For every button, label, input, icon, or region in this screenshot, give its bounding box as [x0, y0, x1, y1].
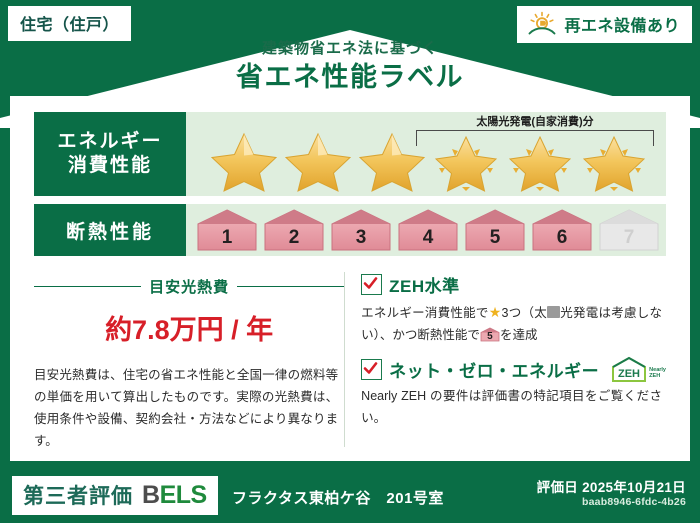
claim-text-post: を達成 [500, 328, 538, 342]
insulation-level-badge: 2 [262, 208, 326, 252]
energy-star-rating [186, 130, 666, 192]
insulation-performance-label-tag: 断熱性能 [34, 204, 186, 256]
heading-rule-right [237, 286, 344, 287]
property-name: フラクタス東柏ケ谷 201号室 [232, 487, 444, 508]
claim-net-zero-energy: ネット・ゼロ・エネルギー ZEH Nearly ZEH [361, 356, 666, 429]
evaluation-id: baab8946-6fdc-4b26 [582, 496, 686, 508]
star-icon [209, 130, 279, 192]
energy-performance-label-tag: エネルギー 消費性能 [34, 112, 186, 196]
insulation-level-scale: 1 2 3 4 5 [186, 204, 666, 256]
star-icon [357, 130, 427, 192]
checkbox-checked-icon [361, 274, 382, 295]
claims-section: ZEH水準 エネルギー消費性能で★3つ（太光発電は考慮しない）、かつ断熱性能で5… [344, 272, 666, 447]
insulation-level-badge: 3 [329, 208, 393, 252]
insulation-level-number: 1 [195, 228, 259, 247]
insulation-level-number: 6 [530, 228, 594, 247]
inline-badge-number: 5 [480, 332, 500, 342]
claim-zeh-standard-body: エネルギー消費性能で★3つ（太光発電は考慮しない）、かつ断熱性能で5を達成 [361, 300, 666, 346]
renewable-energy-badge: 再エネ設備あり [517, 6, 692, 43]
zeh-logo-icon: ZEH Nearly ZEH [610, 356, 666, 383]
claim-zeh-standard-title: ZEH水準 [389, 272, 460, 297]
claim-text-pre: エネルギー消費性能で [361, 306, 489, 320]
utility-cost-note: 目安光熱費は、住宅の省エネ性能と全国一律の燃料等の単価を用いて算出したものです。… [34, 365, 344, 453]
star-icon-solar [505, 130, 575, 192]
bels-wordmark: BELS [142, 481, 207, 510]
dwelling-type-tag: 住宅（住戸） [8, 6, 131, 41]
svg-text:ZEH: ZEH [618, 368, 640, 380]
bels-letter-b: B [142, 481, 160, 509]
evaluation-date: 評価日 2025年10月21日 [537, 476, 686, 496]
energy-label-line2: 消費性能 [68, 154, 152, 178]
energy-label-line1: エネルギー [57, 130, 162, 154]
utility-cost-heading: 目安光熱費 [34, 276, 344, 297]
star-icon-solar [431, 130, 501, 192]
heading-rule-left [34, 286, 141, 287]
claim-text-mid: 3つ（太 [502, 306, 547, 320]
insulation-level-number: 4 [396, 228, 460, 247]
bels-certification-plate: 第三者評価 BELS [12, 476, 218, 515]
lower-section: 目安光熱費 約7.8万円 / 年 目安光熱費は、住宅の省エネ性能と全国一律の燃料… [34, 272, 666, 447]
utility-cost-value: 約7.8万円 / 年 [34, 308, 344, 347]
redacted-character [547, 306, 560, 318]
insulation-level-badge: 5 [463, 208, 527, 252]
claim-zeh-standard: ZEH水準 エネルギー消費性能で★3つ（太光発電は考慮しない）、かつ断熱性能で5… [361, 272, 666, 346]
label-footer: 第三者評価 BELS フラクタス東柏ケ谷 201号室 評価日 2025年10月2… [0, 467, 700, 523]
energy-performance-label: 住宅（住戸） 再エネ設備あり 建築物省エネ法に基づく 省エネ性能ラベル [0, 0, 700, 523]
checkbox-checked-icon [361, 359, 382, 380]
claim-net-zero-header: ネット・ゼロ・エネルギー ZEH Nearly ZEH [361, 356, 666, 383]
renewable-badge-label: 再エネ設備あり [564, 12, 680, 36]
utility-cost-section: 目安光熱費 約7.8万円 / 年 目安光熱費は、住宅の省エネ性能と全国一律の燃料… [34, 272, 344, 447]
insulation-level-number: 5 [463, 228, 527, 247]
label-title-block: 建築物省エネ法に基づく 省エネ性能ラベル [0, 40, 700, 93]
energy-performance-rating-area: 太陽光発電(自家消費)分 [186, 112, 666, 196]
claim-net-zero-title: ネット・ゼロ・エネルギー [389, 357, 599, 382]
star-icon [283, 130, 353, 192]
insulation-level-badge: 6 [530, 208, 594, 252]
insulation-level-badge-inactive: 7 [597, 208, 661, 252]
insulation-performance-row: 断熱性能 1 2 3 [34, 204, 666, 256]
insulation-level-badge: 1 [195, 208, 259, 252]
utility-cost-heading-label: 目安光熱費 [149, 276, 229, 297]
insulation-rating-area: 1 2 3 4 5 [186, 204, 666, 256]
inline-star-icon: ★ [489, 304, 502, 320]
insulation-level-badge: 4 [396, 208, 460, 252]
label-main-title: 省エネ性能ラベル [0, 61, 700, 93]
claim-zeh-standard-header: ZEH水準 [361, 272, 666, 297]
energy-performance-row: エネルギー 消費性能 太陽光発電(自家消費)分 [34, 112, 666, 196]
label-card: エネルギー 消費性能 太陽光発電(自家消費)分 [10, 96, 690, 461]
insulation-level-number: 2 [262, 228, 326, 247]
inline-insulation-badge-icon: 5 [480, 327, 500, 342]
zeh-sub-line2: ZEH [649, 373, 660, 379]
solar-sun-icon [527, 11, 557, 37]
insulation-level-number: 7 [597, 228, 661, 247]
insulation-level-number: 3 [329, 228, 393, 247]
third-party-evaluation-label: 第三者評価 [23, 480, 133, 510]
zeh-logo-subtext: Nearly ZEH [649, 368, 666, 383]
solar-bracket-label: 太陽光発電(自家消費)分 [412, 113, 658, 129]
claim-net-zero-body: Nearly ZEH の要件は評価書の特記項目をご覧ください。 [361, 386, 666, 429]
bels-letters-els: ELS [160, 481, 207, 509]
star-icon-solar [579, 130, 649, 192]
